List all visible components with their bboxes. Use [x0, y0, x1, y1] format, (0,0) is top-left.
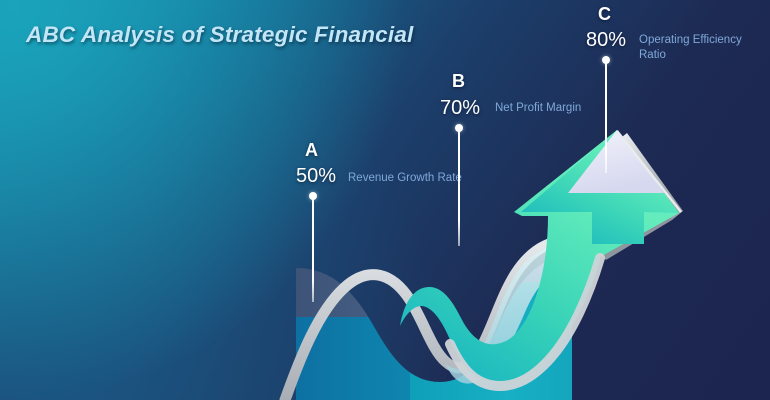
callout-b-letter: B: [452, 71, 465, 92]
callout-a-letter: A: [305, 140, 318, 161]
callout-b-stem: [458, 131, 460, 246]
callout-b-description: Net Profit Margin: [495, 101, 635, 116]
callout-c-stem: [605, 63, 607, 173]
callout-c-letter: C: [598, 4, 611, 25]
page-title: ABC Analysis of Strategic Financial: [26, 22, 414, 48]
infographic-canvas: ABC Analysis of Strategic Financial A 50…: [0, 0, 770, 400]
callout-a-description: Revenue Growth Rate: [348, 171, 466, 186]
callout-c-value: 80%: [586, 29, 626, 52]
callout-c-description: Operating Efficiency Ratio: [639, 33, 759, 63]
callout-a-stem: [312, 199, 314, 302]
callout-a-value: 50%: [296, 165, 336, 188]
callout-b-value: 70%: [440, 97, 480, 120]
